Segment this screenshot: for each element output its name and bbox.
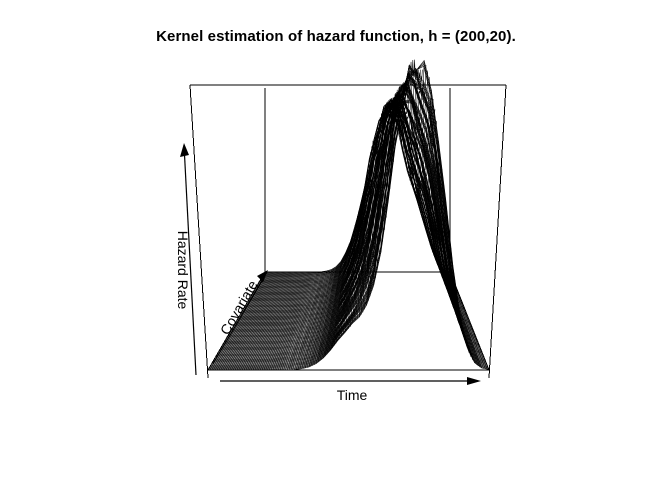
axis-time: Time [220, 377, 481, 403]
mesh-column-line [449, 271, 487, 369]
figure-canvas: Kernel estimation of hazard function, h … [0, 0, 672, 480]
box-front-left-edge [190, 85, 208, 378]
mesh-column-line [441, 267, 475, 363]
axis-label-time: Time [337, 387, 368, 403]
mesh-column-line [443, 269, 478, 366]
mesh-column-line [446, 270, 483, 368]
mesh-column-line [445, 270, 482, 368]
axis-label-hazard-rate: Hazard Rate [175, 231, 191, 310]
mesh-column-line [448, 271, 486, 369]
axis-hazard-rate: Hazard Rate [175, 143, 196, 375]
surface-mesh [208, 60, 489, 370]
box-front-right-edge [489, 85, 506, 378]
mesh-column-line [444, 269, 480, 367]
time-arrow-head [467, 377, 481, 385]
plot-box-frame [190, 85, 506, 378]
perspective-surface-plot: Hazard Rate Covariate Time [0, 0, 672, 480]
hazard-rate-arrow-head [180, 143, 189, 157]
mesh-column-line [442, 268, 477, 365]
mesh-column-line [450, 271, 489, 369]
